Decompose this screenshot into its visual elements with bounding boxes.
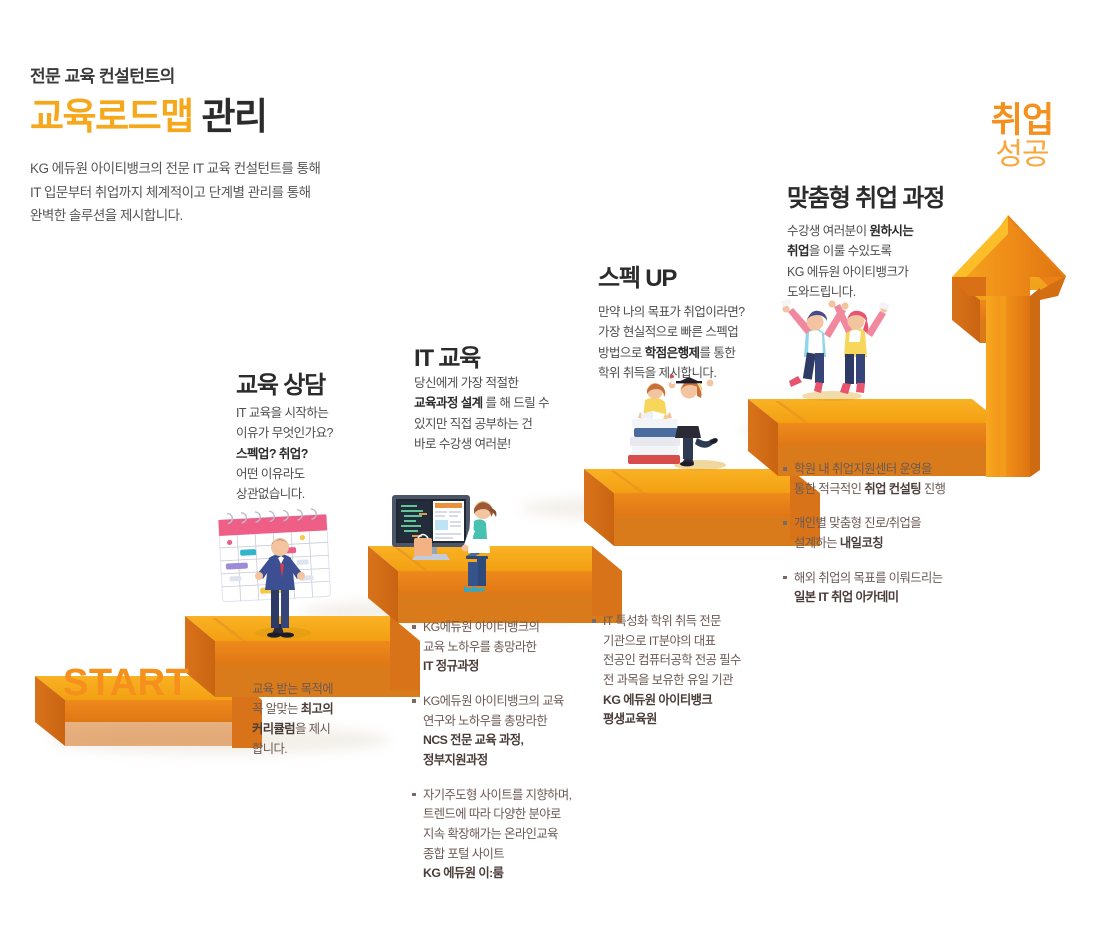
bullet-line: 개인별 맞춤형 진로/취업을 [794, 514, 998, 534]
header-description-line: KG 에듀원 아이티뱅크의 전문 IT 교육 컨설턴트를 통해 [30, 157, 320, 180]
page-title-rest: 관리 [193, 96, 267, 137]
bullet-line-strong: 정부지원과정 [423, 751, 602, 771]
bullet-line: KG에듀원 아이티뱅크의 [423, 618, 602, 638]
step-1-description: IT 교육을 시작하는이유가 무엇인가요?스펙업? 취업?어떤 이유라도상관없습… [236, 403, 426, 504]
bullet-line: 학원 내 취업지원센터 운영을 [794, 460, 998, 480]
stair-block-2 [368, 546, 622, 623]
header-kicker: 전문 교육 컨설턴트의 [30, 62, 320, 87]
bullet-line: 전 과목을 보유한 유일 기관 [603, 671, 792, 691]
bullet-line: KG에듀원 아이티뱅크의 교육 [423, 692, 602, 712]
description-line: 당신에게 가장 적절한 [414, 373, 614, 393]
bullet-item: 학원 내 취업지원센터 운영을통한 적극적인 취업 컨설팅 진행 [783, 460, 998, 499]
description-line: 취업을 이룰 수있도록 [787, 241, 997, 261]
description-line: 스펙업? 취업? [236, 444, 426, 464]
description-line: 만약 나의 목표가 취업이라면? [598, 302, 798, 322]
description-line: 있지만 직접 공부하는 건 [414, 414, 614, 434]
bullet-item: 자기주도형 사이트를 지향하며,트렌드에 따라 다양한 분야로지속 확장해가는 … [412, 786, 602, 884]
bullet-line: 종합 포털 사이트 [423, 845, 602, 865]
infographic-canvas: 전문 교육 컨설턴트의 교육로드맵 관리 KG 에듀원 아이티뱅크의 전문 IT… [0, 0, 1100, 925]
success-label: 취업 성공 [962, 103, 1082, 173]
step-3-description: 만약 나의 목표가 취업이라면?가장 현실적으로 빠른 스펙업방법으로 학점은행… [598, 302, 798, 383]
bullet-line-strong: KG 에듀원 아이티뱅크 [603, 691, 792, 711]
header-description: KG 에듀원 아이티뱅크의 전문 IT 교육 컨설턴트를 통해IT 입문부터 취… [30, 157, 320, 227]
page-title: 교육로드맵 관리 [30, 96, 320, 137]
bullet-dot-icon [783, 521, 787, 525]
caption-line: 합니다. [252, 740, 412, 760]
description-line: 방법으로 학점은행제를 통한 [598, 343, 798, 363]
success-line-1: 취업 [962, 103, 1082, 138]
header-description-line: 완벽한 솔루션을 제시합니다. [30, 204, 320, 227]
bullet-line: 해외 취업의 목표를 이뤄드리는 [794, 569, 998, 589]
bullet-line-strong: 평생교육원 [603, 710, 792, 730]
description-line: 상관없습니다. [236, 484, 426, 504]
description-line: 가장 현실적으로 빠른 스펙업 [598, 322, 798, 342]
bullet-dot-icon [783, 576, 787, 580]
stair-riser-3 [592, 546, 622, 616]
bullet-line: 연구와 노하우를 총망라한 [423, 712, 602, 732]
bullet-line: 자기주도형 사이트를 지향하며, [423, 786, 602, 806]
description-line: 도와드립니다. [787, 282, 997, 302]
step-2-heading: IT 교육 [414, 338, 480, 373]
bullet-dot-icon [412, 699, 416, 703]
bullet-item: KG에듀원 아이티뱅크의 교육연구와 노하우를 총망라한NCS 전문 교육 과정… [412, 692, 602, 771]
bullet-line: 기관으로 IT분야의 대표 [603, 632, 792, 652]
bullet-item: 해외 취업의 목표를 이뤄드리는일본 IT 취업 아카데미 [783, 569, 998, 608]
step-1-caption: 교육 받는 목적에꼭 알맞는 최고의커리큘럼을 제시합니다. [252, 680, 412, 760]
step-2-description: 당신에게 가장 적절한교육과정 설계 를 해 드릴 수있지만 직접 공부하는 건… [414, 373, 614, 454]
header-description-line: IT 입문부터 취업까지 체계적이고 단계별 관리를 통해 [30, 181, 320, 204]
bullet-line: 통한 적극적인 취업 컨설팅 진행 [794, 480, 998, 500]
bullet-line-strong: KG 에듀원 이:룸 [423, 864, 602, 884]
description-line: IT 교육을 시작하는 [236, 403, 426, 423]
description-line: 학위 취득을 제시합니다. [598, 363, 798, 383]
bullet-item: 개인별 맞춤형 진로/취업을설계하는 내일코칭 [783, 514, 998, 553]
description-line: 교육과정 설계 를 해 드릴 수 [414, 393, 614, 413]
caption-line: 커리큘럼을 제시 [252, 720, 412, 740]
bullet-line: 지속 확장해가는 온라인교육 [423, 825, 602, 845]
description-line: KG 에듀원 아이티뱅크가 [787, 262, 997, 282]
description-line: 어떤 이유라도 [236, 464, 426, 484]
step-4-description: 수강생 여러분이 원하시는취업을 이룰 수있도록KG 에듀원 아이티뱅크가도와드… [787, 221, 997, 302]
step-4-heading: 맞춤형 취업 과정 [787, 178, 944, 213]
bullet-line-strong: NCS 전문 교육 과정, [423, 731, 602, 751]
description-line: 바로 수강생 여러분! [414, 434, 614, 454]
start-label: START [63, 662, 189, 705]
bullet-item: IT 특성화 학위 취득 전문기관으로 IT분야의 대표전공인 컴퓨터공학 전공… [592, 612, 792, 730]
bullet-dot-icon [412, 625, 416, 629]
bullet-line: 일본 IT 취업 아카데미 [794, 588, 998, 608]
bullet-line: 트렌드에 따라 다양한 분야로 [423, 805, 602, 825]
step-3-bullets: IT 특성화 학위 취득 전문기관으로 IT분야의 대표전공인 컴퓨터공학 전공… [592, 612, 792, 730]
step-2-bullets: KG에듀원 아이티뱅크의교육 노하우를 총망라한IT 정규과정KG에듀원 아이티… [412, 618, 602, 884]
step-1-heading: 교육 상담 [236, 365, 325, 400]
bullet-line: IT 특성화 학위 취득 전문 [603, 612, 792, 632]
bullet-line: 교육 노하우를 총망라한 [423, 638, 602, 658]
bullet-line-strong: IT 정규과정 [423, 657, 602, 677]
bullet-line: 전공인 컴퓨터공학 전공 필수 [603, 651, 792, 671]
description-line: 수강생 여러분이 원하시는 [787, 221, 997, 241]
bullet-line: 설계하는 내일코칭 [794, 534, 998, 554]
bullet-dot-icon [412, 793, 416, 797]
header-block: 전문 교육 컨설턴트의 교육로드맵 관리 KG 에듀원 아이티뱅크의 전문 IT… [30, 62, 320, 227]
caption-line: 교육 받는 목적에 [252, 680, 412, 700]
bullet-dot-icon [592, 619, 596, 623]
bullet-item: KG에듀원 아이티뱅크의교육 노하우를 총망라한IT 정규과정 [412, 618, 602, 677]
page-title-highlight: 교육로드맵 [30, 96, 193, 137]
description-line: 이유가 무엇인가요? [236, 423, 426, 443]
caption-line: 꼭 알맞는 최고의 [252, 700, 412, 720]
bullet-dot-icon [783, 467, 787, 471]
success-line-2: 성공 [962, 138, 1082, 173]
step-4-bullets: 학원 내 취업지원센터 운영을통한 적극적인 취업 컨설팅 진행개인별 맞춤형 … [783, 460, 998, 608]
step-3-heading: 스펙 UP [598, 258, 676, 293]
